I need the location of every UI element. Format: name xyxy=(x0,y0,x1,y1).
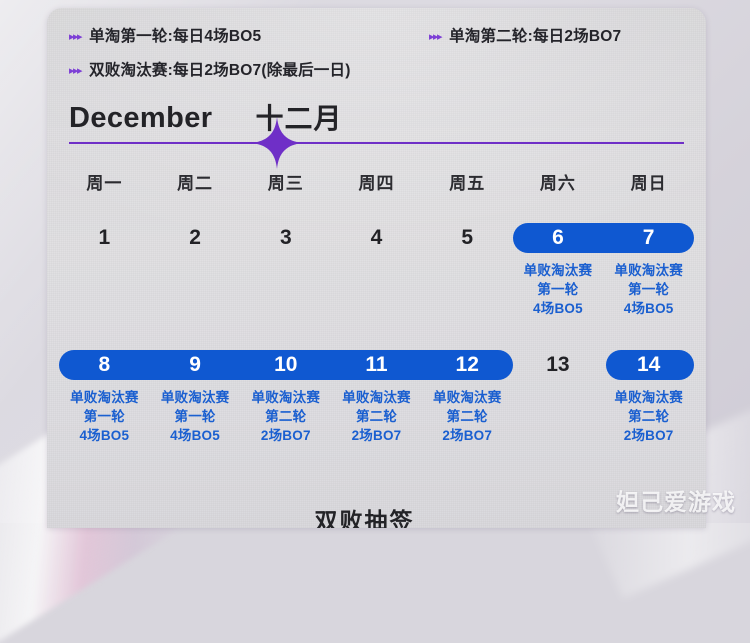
day-cell-4[interactable]: 4 xyxy=(331,223,422,253)
event-cell-10: 单败淘汰赛 第二轮 2场BO7 xyxy=(240,389,331,446)
event-format: 4场BO5 xyxy=(150,426,241,446)
event-cell-12: 单败淘汰赛 第二轮 2场BO7 xyxy=(422,389,513,446)
day-cell-8[interactable]: 8 xyxy=(59,350,150,380)
event-title: 单败淘汰赛 xyxy=(59,389,150,407)
weekday-wed: 周三 xyxy=(240,169,331,194)
month-title: December 十二月 xyxy=(69,104,684,133)
event-round: 第二轮 xyxy=(603,407,694,427)
legend-note-2: ▸▸▸ 单淘第二轮:每日2场BO7 xyxy=(429,24,621,46)
legend-note-3: ▸▸▸ 双败淘汰赛:每日2场BO7(除最后一日) xyxy=(69,58,429,80)
event-format: 4场BO5 xyxy=(513,299,604,319)
week-1-events: 单败淘汰赛 第一轮 4场BO5 单败淘汰赛 第一轮 4场BO5 xyxy=(59,262,694,319)
day-cell-7[interactable]: 7 xyxy=(603,223,694,253)
event-round: 第二轮 xyxy=(240,407,331,427)
event-cell-empty xyxy=(422,262,513,319)
event-format: 2场BO7 xyxy=(331,426,422,446)
triple-arrow-icon: ▸▸▸ xyxy=(69,31,81,42)
event-title: 单败淘汰赛 xyxy=(150,389,241,407)
day-cell-10[interactable]: 10 xyxy=(240,350,331,380)
legend-note-row-2: ▸▸▸ 双败淘汰赛:每日2场BO7(除最后一日) xyxy=(69,58,706,80)
day-cell-2[interactable]: 2 xyxy=(150,223,241,253)
day-cell-14[interactable]: 14 xyxy=(603,350,694,380)
event-round: 第二轮 xyxy=(422,407,513,427)
event-cell-empty xyxy=(331,262,422,319)
schedule-card: ▸▸▸ 单淘第一轮:每日4场BO5 ▸▸▸ 单淘第二轮:每日2场BO7 ▸▸▸ … xyxy=(47,8,706,528)
event-format: 2场BO7 xyxy=(422,426,513,446)
day-cell-11[interactable]: 11 xyxy=(331,350,422,380)
day-cell-3[interactable]: 3 xyxy=(240,223,331,253)
event-format: 4场BO5 xyxy=(59,426,150,446)
event-format: 4场BO5 xyxy=(603,299,694,319)
month-title-english: December xyxy=(69,104,212,133)
event-title: 单败淘汰赛 xyxy=(513,262,604,280)
event-cell-empty xyxy=(513,389,604,446)
event-title: 单败淘汰赛 xyxy=(240,389,331,407)
event-format: 2场BO7 xyxy=(240,426,331,446)
day-cell-6[interactable]: 6 xyxy=(513,223,604,253)
event-cell-empty xyxy=(59,262,150,319)
bottom-partial-label: 双败抽签 xyxy=(47,502,706,528)
event-format: 2场BO7 xyxy=(603,426,694,446)
legend-note-1-label: 单淘第一轮:每日4场BO5 xyxy=(89,24,261,46)
day-cell-5[interactable]: 5 xyxy=(422,223,513,253)
event-title: 单败淘汰赛 xyxy=(603,262,694,280)
triple-arrow-icon: ▸▸▸ xyxy=(429,31,441,42)
legend-notes: ▸▸▸ 单淘第一轮:每日4场BO5 ▸▸▸ 单淘第二轮:每日2场BO7 ▸▸▸ … xyxy=(47,8,706,80)
legend-note-3-label: 双败淘汰赛:每日2场BO7(除最后一日) xyxy=(89,58,350,80)
weekday-thu: 周四 xyxy=(331,169,422,194)
weekday-fri: 周五 xyxy=(422,169,513,194)
event-cell-empty xyxy=(240,262,331,319)
day-cell-13[interactable]: 13 xyxy=(513,350,604,380)
week-1-day-numbers: 1 2 3 4 5 6 7 xyxy=(59,223,694,253)
event-cell-8: 单败淘汰赛 第一轮 4场BO5 xyxy=(59,389,150,446)
day-cell-9[interactable]: 9 xyxy=(150,350,241,380)
legend-note-1: ▸▸▸ 单淘第一轮:每日4场BO5 xyxy=(69,24,429,46)
day-cell-12[interactable]: 12 xyxy=(422,350,513,380)
event-round: 第一轮 xyxy=(513,280,604,300)
event-cell-6: 单败淘汰赛 第一轮 4场BO5 xyxy=(513,262,604,319)
weekday-header-row: 周一 周二 周三 周四 周五 周六 周日 xyxy=(59,169,694,194)
event-cell-11: 单败淘汰赛 第二轮 2场BO7 xyxy=(331,389,422,446)
event-cell-14: 单败淘汰赛 第二轮 2场BO7 xyxy=(603,389,694,446)
day-cell-1[interactable]: 1 xyxy=(59,223,150,253)
month-title-chinese: 十二月 xyxy=(255,105,342,133)
event-title: 单败淘汰赛 xyxy=(422,389,513,407)
event-round: 第一轮 xyxy=(603,280,694,300)
week-2-day-numbers: 8 9 10 11 12 13 14 xyxy=(59,350,694,380)
calendar-week-2: 8 9 10 11 12 13 14 单败淘汰赛 第一轮 4场BO5 单败淘汰赛 xyxy=(59,350,694,446)
event-round: 第二轮 xyxy=(331,407,422,427)
month-divider-rule xyxy=(69,142,684,144)
weekday-sun: 周日 xyxy=(603,169,694,194)
event-title: 单败淘汰赛 xyxy=(331,389,422,407)
legend-note-2-label: 单淘第二轮:每日2场BO7 xyxy=(449,24,621,46)
weekday-tue: 周二 xyxy=(150,169,241,194)
triple-arrow-icon: ▸▸▸ xyxy=(69,65,81,76)
event-round: 第一轮 xyxy=(150,407,241,427)
event-title: 单败淘汰赛 xyxy=(603,389,694,407)
event-round: 第一轮 xyxy=(59,407,150,427)
calendar-week-1: 1 2 3 4 5 6 7 单败淘汰赛 第一轮 xyxy=(59,223,694,319)
watermark: 妲己爱游戏 xyxy=(616,483,736,517)
legend-note-row-1: ▸▸▸ 单淘第一轮:每日4场BO5 ▸▸▸ 单淘第二轮:每日2场BO7 xyxy=(69,24,706,46)
event-cell-empty xyxy=(150,262,241,319)
event-cell-9: 单败淘汰赛 第一轮 4场BO5 xyxy=(150,389,241,446)
weekday-mon: 周一 xyxy=(59,169,150,194)
week-2-events: 单败淘汰赛 第一轮 4场BO5 单败淘汰赛 第一轮 4场BO5 单败淘汰赛 第二… xyxy=(59,389,694,446)
calendar: 周一 周二 周三 周四 周五 周六 周日 1 2 3 4 5 6 xyxy=(47,169,706,446)
weekday-sat: 周六 xyxy=(513,169,604,194)
event-cell-7: 单败淘汰赛 第一轮 4场BO5 xyxy=(603,262,694,319)
